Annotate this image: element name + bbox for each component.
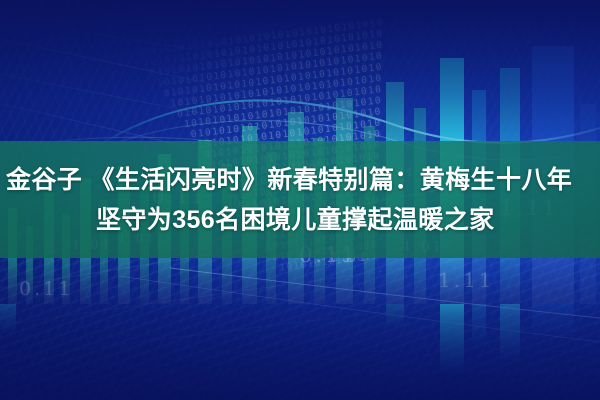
headline-line-2: 坚守为356名困境儿童撑起温暖之家 [0,200,600,240]
headline-line-1: 金谷子 《生活闪亮时》新春特别篇：黄梅生十八年 [0,160,600,200]
promo-banner: 0101010101010101010101010101010101010101… [0,0,600,400]
bottom-vignette [0,250,600,400]
headline-block: 金谷子 《生活闪亮时》新春特别篇：黄梅生十八年 坚守为356名困境儿童撑起温暖之… [0,141,600,258]
